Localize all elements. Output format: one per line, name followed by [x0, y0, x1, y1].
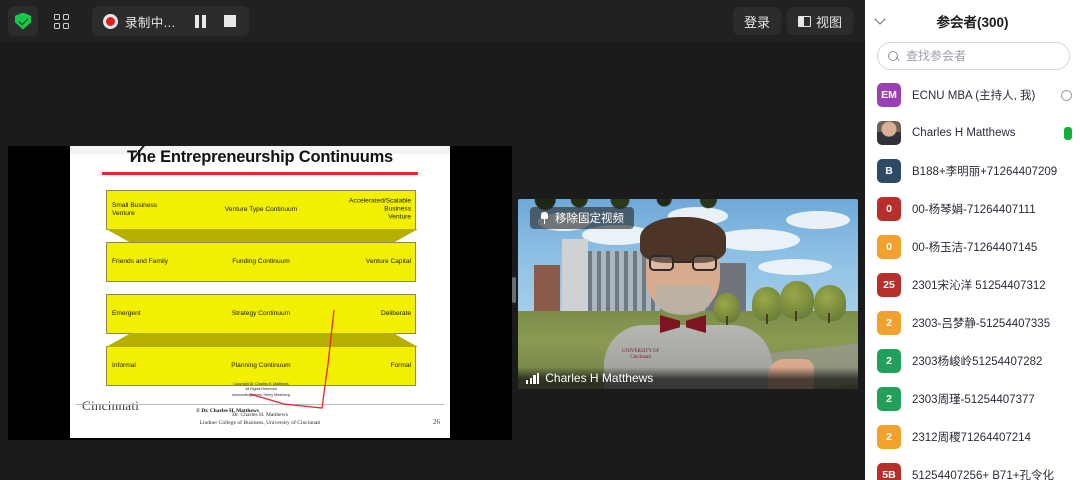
- resize-divider-handle[interactable]: [512, 277, 516, 303]
- slide-title: The Entrepreneurship Continuums: [70, 148, 450, 167]
- security-button[interactable]: [8, 6, 38, 36]
- recording-controls: 录制中...: [92, 6, 249, 36]
- participant-row[interactable]: 22303-吕梦静-51254407335: [865, 304, 1080, 342]
- participant-list: EMECNU MBA (主持人, 我)Charles H MatthewsBB1…: [865, 76, 1080, 480]
- unpin-label: 移除固定视频: [555, 210, 624, 226]
- participant-row[interactable]: 000-杨玉洁-71264407145: [865, 228, 1080, 266]
- avatar: 2: [877, 349, 901, 373]
- bowtie: [660, 315, 706, 333]
- view-button[interactable]: 视图: [787, 7, 853, 35]
- participant-row[interactable]: 22303周瑾-51254407377: [865, 380, 1080, 418]
- audio-level-icon: [526, 373, 539, 384]
- participant-name: Charles H Matthews: [912, 127, 1016, 139]
- band-3-mid-label: Strategy Continuum: [107, 310, 415, 318]
- participant-row[interactable]: EMECNU MBA (主持人, 我): [865, 76, 1080, 114]
- participants-panel: 参会者(300) EMECNU MBA (主持人, 我)Charles H Ma…: [865, 0, 1080, 480]
- avatar: 2: [877, 311, 901, 335]
- record-dot-icon: [103, 14, 118, 29]
- search-icon: [888, 51, 899, 62]
- participant-row[interactable]: 5B51254407256+ B71+孔令化: [865, 456, 1080, 480]
- participant-row[interactable]: 252301宋沁洋 51254407312: [865, 266, 1080, 304]
- participant-name: 00-杨玉洁-71264407145: [912, 239, 1037, 255]
- slide-footer-divider: [76, 404, 444, 405]
- presentation-slide: The Entrepreneurship Continuums Small Bu…: [70, 146, 450, 438]
- participant-row[interactable]: 000-杨琴娟-71264407111: [865, 190, 1080, 228]
- band-2-right-label: Venture Capital: [366, 258, 411, 266]
- participant-row[interactable]: BB188+李明丽+71264407209: [865, 152, 1080, 190]
- band-4-right-label: Formal: [390, 362, 411, 370]
- participant-status: [1064, 127, 1072, 140]
- continuum-band-3: Emergent Strategy Continuum Deliberate: [106, 294, 416, 334]
- avatar: B: [877, 159, 901, 183]
- band-3-right-label: Deliberate: [381, 310, 411, 318]
- participant-name: 2303周瑾-51254407377: [912, 391, 1035, 407]
- tree: [752, 287, 782, 321]
- continuum-band-2: Friends and Family Funding Continuum Ven…: [106, 242, 416, 282]
- speaker-video-tile[interactable]: UNIVERSITY OFCincinnati 移除固定视频 Charles H…: [518, 199, 858, 389]
- avatar: [877, 121, 901, 145]
- participant-name: ECNU MBA (主持人, 我): [912, 87, 1035, 103]
- recording-label: 录制中...: [125, 12, 175, 31]
- participant-row[interactable]: 22312周稷71264407214: [865, 418, 1080, 456]
- band-4-mid-label: Planning Continuum: [107, 362, 415, 370]
- video-speaker-name: Charles H Matthews: [545, 371, 653, 385]
- pause-icon: [195, 15, 206, 28]
- participant-name: 2301宋沁洋 51254407312: [912, 277, 1046, 293]
- participants-panel-header: 参会者(300): [865, 0, 1080, 42]
- apps-button[interactable]: [46, 6, 76, 36]
- participant-name: 51254407256+ B71+孔令化: [912, 467, 1054, 480]
- avatar: 2: [877, 387, 901, 411]
- slide-title-rule: [102, 172, 418, 175]
- mic-muted-icon: [1061, 90, 1072, 101]
- avatar: 0: [877, 235, 901, 259]
- continuum-band-1: Small BusinessVenture Venture Type Conti…: [106, 190, 416, 230]
- slide-page-number: 26: [433, 418, 440, 426]
- participant-search-wrap: [865, 42, 1080, 70]
- pause-recording-button[interactable]: [185, 6, 215, 36]
- grid-apps-icon: [54, 14, 69, 29]
- cloud: [758, 259, 832, 275]
- participant-row[interactable]: Charles H Matthews: [865, 114, 1080, 152]
- stop-icon: [224, 15, 236, 27]
- avatar: 5B: [877, 463, 901, 480]
- toolbar-right-group: 登录 视图: [727, 7, 865, 35]
- layout-view-icon: [798, 16, 811, 27]
- continuum-band-4: Informal Planning Continuum Formal: [106, 346, 416, 386]
- view-label: 视图: [816, 12, 842, 31]
- cloud: [714, 229, 800, 251]
- tree: [714, 293, 740, 323]
- recording-status[interactable]: 录制中...: [96, 6, 185, 36]
- slide-copyright: Copyright Dr. Charles H. MatthewsAll Rig…: [106, 382, 416, 398]
- participant-name: 2303-吕梦静-51254407335: [912, 315, 1050, 331]
- tree: [814, 285, 846, 321]
- stop-recording-button[interactable]: [215, 6, 245, 36]
- participant-name: B188+李明丽+71264407209: [912, 163, 1057, 179]
- avatar: EM: [877, 83, 901, 107]
- slide-footer-center: Dr. Charles H. MatthewsLindner College o…: [70, 412, 450, 427]
- participants-title: 参会者(300): [936, 11, 1008, 31]
- avatar: 25: [877, 273, 901, 297]
- participant-name: 2303杨峻岭51254407282: [912, 353, 1042, 369]
- participant-status: [1061, 90, 1072, 101]
- avatar: 0: [877, 197, 901, 221]
- band-1-right-label: Accelerated/ScalableBusinessVenture: [349, 198, 411, 223]
- video-name-bar: Charles H Matthews: [518, 367, 858, 389]
- login-label: 登录: [744, 12, 770, 31]
- unpin-icon: [540, 212, 549, 224]
- tree: [780, 281, 814, 319]
- participant-name: 2312周稷71264407214: [912, 429, 1031, 445]
- unpin-video-button[interactable]: 移除固定视频: [530, 207, 634, 229]
- participant-search-box[interactable]: [877, 42, 1070, 70]
- meeting-area: 录制中... 登录 视图: [0, 0, 865, 480]
- mic-unmuted-icon: [1064, 127, 1072, 140]
- shared-screen-stage[interactable]: The Entrepreneurship Continuums Small Bu…: [8, 146, 512, 440]
- shield-check-icon: [15, 13, 31, 30]
- top-toolbar: 录制中... 登录 视图: [0, 0, 865, 42]
- person-beard: [655, 285, 711, 315]
- participant-row[interactable]: 22303杨峻岭51254407282: [865, 342, 1080, 380]
- chevron-down-icon[interactable]: [875, 13, 887, 25]
- login-button[interactable]: 登录: [733, 7, 781, 35]
- jacket-logo: UNIVERSITY OFCincinnati: [622, 349, 659, 361]
- eyeglasses: [649, 255, 717, 271]
- participant-name: 00-杨琴娟-71264407111: [912, 201, 1036, 217]
- avatar: 2: [877, 425, 901, 449]
- zoom-meeting-window: 录制中... 登录 视图: [0, 0, 1080, 480]
- search-input[interactable]: [906, 49, 1059, 63]
